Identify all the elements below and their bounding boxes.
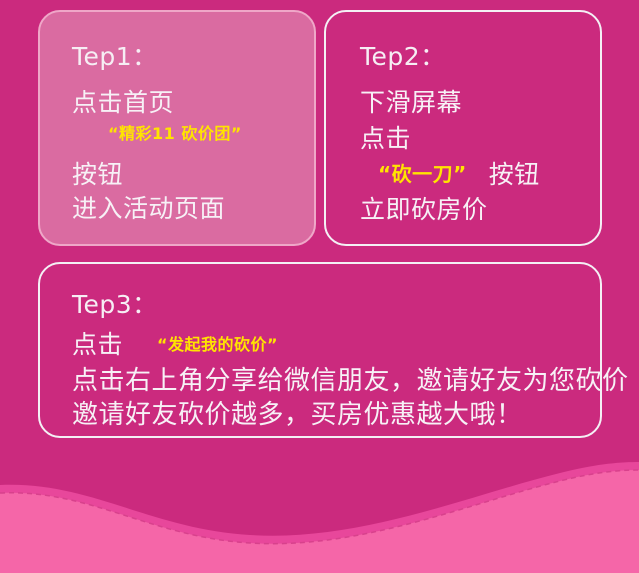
step-1-line-3: 进入活动页面 xyxy=(72,189,225,225)
step-3-title: Tep3： xyxy=(72,285,158,321)
step-3-lead-row: 点击 “发起我的砍价” xyxy=(72,325,278,361)
step-2-line-2: 点击 xyxy=(360,119,411,155)
bottom-wave-decoration xyxy=(0,433,639,573)
step-2-line-3: 立即砍房价 xyxy=(360,190,488,226)
wave-upper-band xyxy=(0,462,639,573)
step-2-highlight-row: “砍一刀” 按钮 xyxy=(378,155,540,191)
step-3-lead: 点击 xyxy=(72,325,123,361)
step-1-highlight: “精彩11 砍价团” xyxy=(108,120,242,144)
promo-poster: Tep1： 点击首页 “精彩11 砍价团” 按钮 进入活动页面 Tep2： 下滑… xyxy=(0,0,639,573)
step-2-line-1: 下滑屏幕 xyxy=(360,83,462,119)
step-1-title: Tep1： xyxy=(72,37,158,73)
step-2-highlight-suffix: 按钮 xyxy=(489,155,540,191)
step-3-line-2: 邀请好友砍价越多，买房优惠越大哦！ xyxy=(72,394,523,431)
wave-lower-band xyxy=(0,470,639,573)
step-3-highlight: “发起我的砍价” xyxy=(157,331,278,355)
wave-dashed-line xyxy=(0,470,639,544)
step-3-line-1: 点击右上角分享给微信朋友，邀请好友为您砍价 xyxy=(72,360,629,397)
step-1-line-2: 按钮 xyxy=(72,155,123,191)
step-2-highlight: “砍一刀” xyxy=(378,158,467,187)
step-1-line-1: 点击首页 xyxy=(72,83,174,119)
step-2-title: Tep2： xyxy=(360,37,446,73)
